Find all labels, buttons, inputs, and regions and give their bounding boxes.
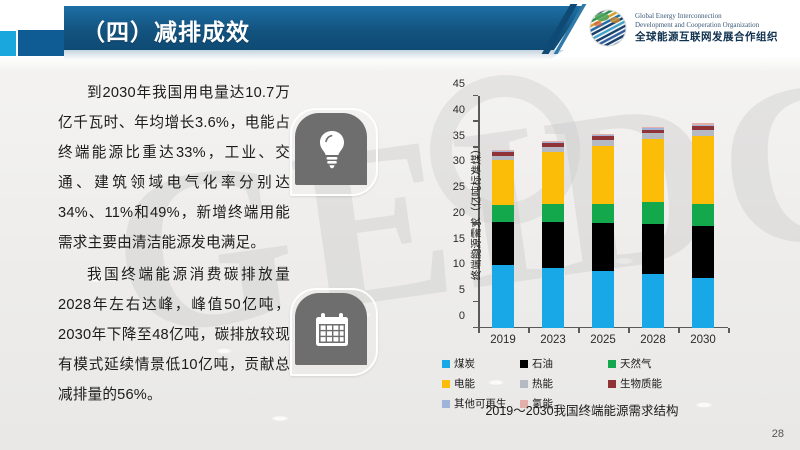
legend-item[interactable]: 石油 bbox=[520, 356, 608, 371]
logo-text-block: Global Energy Interconnection Developmen… bbox=[635, 12, 778, 44]
y-axis-tick: 40 bbox=[473, 120, 478, 122]
x-axis-tick bbox=[628, 328, 630, 333]
chart-bar-segment bbox=[592, 134, 614, 135]
chart-bar-segment bbox=[592, 271, 614, 328]
chart-title: 2019～2030我国终端能源需求结构 bbox=[432, 400, 732, 419]
y-axis-tick-label: 10 bbox=[453, 258, 465, 270]
chart-bar-segment bbox=[492, 150, 514, 151]
chart-bar[interactable] bbox=[592, 96, 614, 328]
legend-swatch bbox=[442, 360, 450, 368]
y-axis-tick: 5 bbox=[473, 301, 478, 303]
header-accent-blue-square bbox=[18, 30, 64, 56]
chart-bar-segment bbox=[692, 130, 714, 137]
chart-bar-segment bbox=[592, 204, 614, 223]
legend-item[interactable]: 生物质能 bbox=[608, 376, 700, 391]
legend-label: 煤炭 bbox=[454, 356, 475, 371]
x-axis-tick bbox=[578, 328, 580, 333]
y-axis-tick: 30 bbox=[473, 172, 478, 174]
calendar-icon bbox=[312, 308, 352, 350]
chart-bar-segment bbox=[692, 204, 714, 227]
paragraph-1: 到2030年我国用电量达10.7万亿千瓦时、年均增长3.6%，电能占终端能源比重… bbox=[58, 78, 290, 258]
paragraph-2: 我国终端能源消费碳排放量2028年左右达峰，峰值50亿吨，2030年下降至48亿… bbox=[58, 260, 290, 410]
chart-bar-segment bbox=[542, 268, 564, 328]
chart-plot-area: 终端能源需求（亿吨标准煤） 05101520253035404520192023… bbox=[478, 96, 728, 328]
x-axis-tick bbox=[728, 328, 730, 333]
x-axis-tick-label: 2019 bbox=[490, 334, 516, 346]
chart-bar-segment bbox=[592, 136, 614, 140]
badge-carbon-peak-year bbox=[290, 288, 378, 376]
chart-bar-segment bbox=[642, 128, 664, 130]
legend-label: 生物质能 bbox=[620, 376, 662, 391]
y-axis-tick: 20 bbox=[473, 223, 478, 225]
y-axis-tick-label: 35 bbox=[453, 130, 465, 142]
chart-bar-segment bbox=[542, 222, 564, 268]
y-axis-label: 终端能源需求（亿吨标准煤） bbox=[469, 144, 484, 281]
chart-bar-segment bbox=[642, 130, 664, 133]
x-axis-tick-label: 2030 bbox=[690, 334, 716, 346]
y-axis-tick: 10 bbox=[473, 275, 478, 277]
chart-bar[interactable] bbox=[692, 96, 714, 328]
chart-bar-segment bbox=[692, 136, 714, 204]
energy-demand-chart: 终端能源需求（亿吨标准煤） 05101520253035404520192023… bbox=[432, 88, 732, 418]
chart-bar-segment bbox=[542, 204, 564, 222]
chart-bar[interactable] bbox=[542, 96, 564, 328]
chart-bar-segment bbox=[642, 133, 664, 139]
x-axis-tick bbox=[678, 328, 680, 333]
chart-bar-segment bbox=[592, 223, 614, 271]
x-axis-tick-label: 2025 bbox=[590, 334, 616, 346]
organization-logo: Global Energy Interconnection Developmen… bbox=[588, 8, 778, 48]
y-axis-tick: 35 bbox=[473, 146, 478, 148]
chart-bar-segment bbox=[592, 140, 614, 146]
chart-bar-segment bbox=[492, 205, 514, 221]
legend-swatch bbox=[520, 380, 528, 388]
legend-label: 热能 bbox=[532, 376, 553, 391]
chart-bar-segment bbox=[642, 127, 664, 128]
header-accent-cyan-square bbox=[0, 31, 16, 56]
chart-bar-segment bbox=[692, 125, 714, 127]
x-axis-tick-label: 2023 bbox=[540, 334, 566, 346]
y-axis-tick-label: 40 bbox=[453, 104, 465, 116]
slide-header: （四）减排成效 bbox=[0, 0, 800, 72]
x-axis-tick bbox=[528, 328, 530, 333]
y-axis-tick-label: 5 bbox=[459, 284, 465, 296]
legend-swatch bbox=[520, 360, 528, 368]
chart-bar-segment bbox=[642, 139, 664, 202]
x-axis-tick bbox=[478, 328, 480, 333]
y-axis-tick-label: 15 bbox=[453, 233, 465, 245]
chart-bar-segment bbox=[692, 226, 714, 278]
chart-bar-segment bbox=[492, 265, 514, 328]
page-number: 28 bbox=[772, 428, 784, 440]
legend-item[interactable]: 热能 bbox=[520, 376, 608, 391]
slide-root: GEIDCO （四）减排成效 bbox=[0, 0, 800, 450]
legend-swatch bbox=[608, 380, 616, 388]
y-axis-tick-label: 0 bbox=[459, 310, 465, 322]
chart-bar-segment bbox=[592, 135, 614, 137]
chart-bar-segment bbox=[692, 278, 714, 328]
chart-bar-segment bbox=[592, 146, 614, 204]
x-axis-tick-label: 2028 bbox=[640, 334, 666, 346]
legend-label: 天然气 bbox=[620, 356, 652, 371]
y-axis-tick: 45 bbox=[473, 95, 478, 97]
y-axis-tick-label: 20 bbox=[453, 207, 465, 219]
legend-swatch bbox=[608, 360, 616, 368]
badge-electrification bbox=[290, 108, 378, 196]
legend-item[interactable]: 天然气 bbox=[608, 356, 700, 371]
chart-bar-segment bbox=[642, 274, 664, 328]
chart-bar-segment bbox=[542, 143, 564, 147]
logo-text-en-line2: Development and Cooperation Organization bbox=[635, 21, 778, 30]
chart-bar-segment bbox=[692, 123, 714, 125]
chart-bar-segment bbox=[492, 151, 514, 153]
page-title: （四）减排成效 bbox=[82, 13, 250, 47]
header-band-shadow bbox=[64, 50, 564, 60]
lightbulb-icon bbox=[312, 128, 352, 170]
y-axis-tick: 25 bbox=[473, 198, 478, 200]
y-axis-tick-label: 45 bbox=[453, 78, 465, 90]
y-axis-tick-label: 30 bbox=[453, 155, 465, 167]
y-axis-tick-label: 25 bbox=[453, 181, 465, 193]
chart-bar-segment bbox=[642, 224, 664, 274]
chart-bar-segment bbox=[492, 152, 514, 156]
chart-bar-segment bbox=[492, 156, 514, 160]
chart-bar[interactable] bbox=[642, 96, 664, 328]
chart-bar-segment bbox=[542, 147, 564, 152]
legend-label: 石油 bbox=[532, 356, 553, 371]
chart-bar-segment bbox=[642, 202, 664, 224]
body-text-column: 到2030年我国用电量达10.7万亿千瓦时、年均增长3.6%，电能占终端能源比重… bbox=[58, 78, 290, 410]
y-axis-tick: 15 bbox=[473, 249, 478, 251]
chart-bar-segment bbox=[542, 142, 564, 144]
globe-icon bbox=[588, 8, 628, 48]
chart-bar-segment bbox=[542, 141, 564, 142]
chart-bar[interactable] bbox=[492, 96, 514, 328]
logo-text-cn: 全球能源互联网发展合作组织 bbox=[635, 31, 778, 44]
legend-swatch bbox=[442, 380, 450, 388]
chart-bar-segment bbox=[692, 126, 714, 129]
legend-item[interactable]: 电能 bbox=[442, 376, 520, 391]
chart-bar-segment bbox=[542, 152, 564, 204]
chart-bar-segment bbox=[492, 160, 514, 205]
logo-text-en-line1: Global Energy Interconnection bbox=[635, 12, 778, 21]
chart-bar-segment bbox=[492, 222, 514, 265]
legend-item[interactable]: 煤炭 bbox=[442, 356, 520, 371]
legend-label: 电能 bbox=[454, 376, 475, 391]
